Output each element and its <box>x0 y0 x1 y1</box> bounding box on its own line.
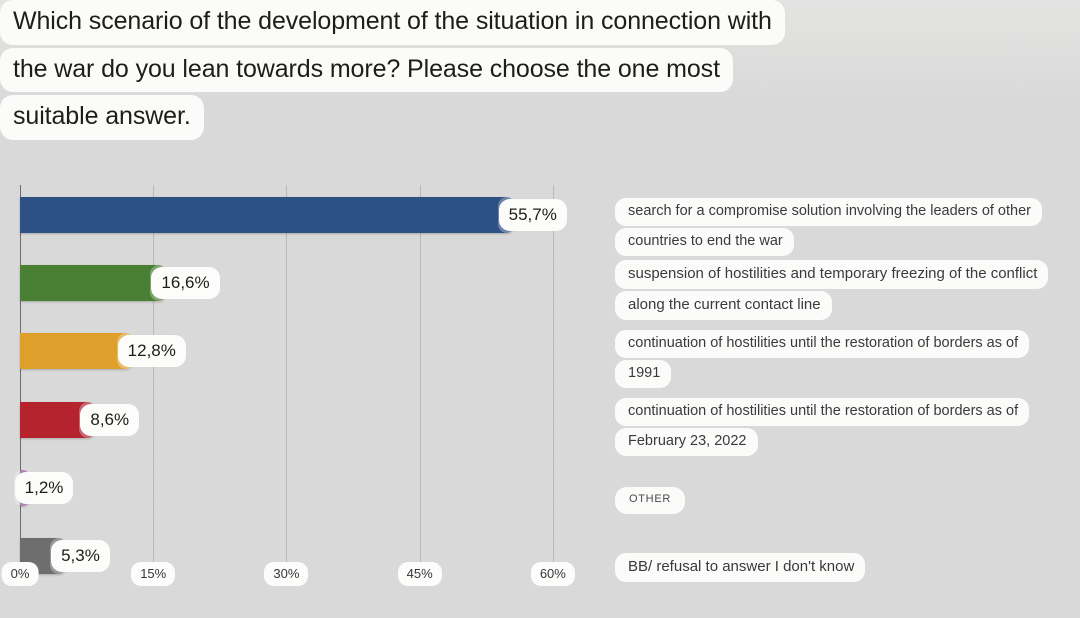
bar[interactable] <box>20 197 515 233</box>
bar-value-label: 8,6% <box>80 404 139 436</box>
bar-row[interactable]: 8,6% <box>20 402 139 438</box>
bar[interactable] <box>20 265 167 301</box>
gridline <box>420 185 421 562</box>
bar-row[interactable]: 16,6% <box>20 265 220 301</box>
category-label-line: search for a compromise solution involvi… <box>615 198 1042 226</box>
bar-value-label: 5,3% <box>51 540 110 572</box>
page-title: Which scenario of the development of the… <box>0 0 940 143</box>
x-tick-label: 0% <box>2 562 39 586</box>
bar-row[interactable]: 1,2% <box>20 470 73 506</box>
x-tick-label: 15% <box>131 562 175 586</box>
x-tick-label: 45% <box>398 562 442 586</box>
category-label-line: continuation of hostilities until the re… <box>615 330 1029 358</box>
gridline <box>286 185 287 562</box>
category-label-line: countries to end the war <box>615 228 794 256</box>
gridline <box>553 185 554 562</box>
bar-value-label: 16,6% <box>151 267 219 299</box>
bar-value-label: 12,8% <box>118 335 186 367</box>
title-line-1: Which scenario of the development of the… <box>0 0 785 45</box>
category-label-0[interactable]: search for a compromise solution involvi… <box>615 198 1042 258</box>
category-label-5[interactable]: BB/ refusal to answer I don't know <box>615 553 865 584</box>
bar-value-label: 1,2% <box>15 472 74 504</box>
gridline <box>153 185 154 562</box>
bar[interactable] <box>20 333 134 369</box>
category-label-line: February 23, 2022 <box>615 428 758 456</box>
title-line-2: the war do you lean towards more? Please… <box>0 48 733 93</box>
title-line-3: suitable answer. <box>0 95 204 140</box>
category-label-line: continuation of hostilities until the re… <box>615 398 1029 426</box>
bar-row[interactable]: 12,8% <box>20 333 186 369</box>
category-label-line: 1991 <box>615 360 671 388</box>
category-label-line: suspension of hostilities and temporary … <box>615 260 1048 289</box>
x-tick-label: 30% <box>264 562 308 586</box>
category-label-3[interactable]: continuation of hostilities until the re… <box>615 398 1029 458</box>
category-label-line: OTHER <box>615 487 685 514</box>
category-label-line: along the current contact line <box>615 291 832 320</box>
category-label-1[interactable]: suspension of hostilities and temporary … <box>615 260 1048 322</box>
x-tick-label: 60% <box>531 562 575 586</box>
category-labels: search for a compromise solution involvi… <box>615 180 1080 580</box>
category-label-line: BB/ refusal to answer I don't know <box>615 553 865 582</box>
category-label-2[interactable]: continuation of hostilities until the re… <box>615 330 1029 390</box>
chart-plot-area: 55,7%16,6%12,8%8,6%1,2%5,3% <box>20 185 615 562</box>
bar-row[interactable]: 55,7% <box>20 197 567 233</box>
category-label-4[interactable]: OTHER <box>615 487 685 516</box>
bar-value-label: 55,7% <box>499 199 567 231</box>
bar-chart: 55,7%16,6%12,8%8,6%1,2%5,3% 0%15%30%45%6… <box>0 180 615 580</box>
